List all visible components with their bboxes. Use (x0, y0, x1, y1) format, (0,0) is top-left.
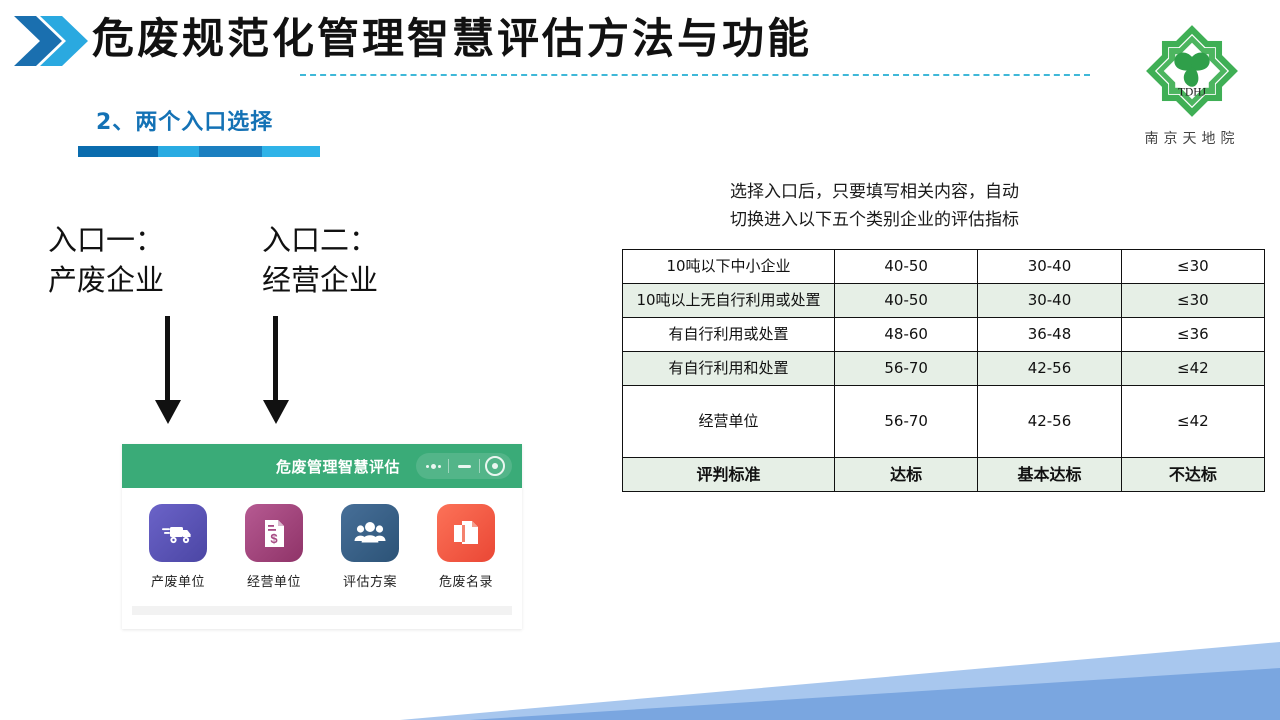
row-label: 10吨以上无自行利用或处置 (623, 284, 835, 318)
row-cell-1: 56-70 (835, 386, 978, 458)
app-item-minglu[interactable]: 危废名录 (428, 504, 504, 590)
minimize-icon[interactable] (449, 453, 479, 479)
clover-diamond-logo-icon: TDHJ (1139, 18, 1245, 124)
app-label-jingying: 经营单位 (236, 571, 312, 590)
row-label: 有自行利用和处置 (623, 352, 835, 386)
entry-one-line2: 产废企业 (48, 260, 164, 300)
note-line-2: 切换进入以下五个类别企业的评估指标 (730, 206, 1019, 234)
row-cell-1: 40-50 (835, 284, 978, 318)
row-cell-2: 42-56 (978, 386, 1121, 458)
row-cell-1: 56-70 (835, 352, 978, 386)
section-heading: 2、两个入口选择 (96, 104, 273, 136)
window-controls-capsule[interactable] (416, 453, 512, 479)
invoice-dollar-icon: $ (245, 504, 303, 562)
logo-monogram: TDHJ (1178, 87, 1207, 99)
row-cell-3: ≤42 (1121, 352, 1264, 386)
miniprogram-titlebar: 危废管理智慧评估 (122, 444, 522, 488)
organization-logo: TDHJ 南京天地院 (1126, 18, 1258, 148)
note-text: 选择入口后，只要填写相关内容，自动 切换进入以下五个类别企业的评估指标 (730, 178, 1019, 234)
close-target-icon[interactable] (480, 453, 510, 479)
row-cell-2: 基本达标 (978, 458, 1121, 492)
miniprogram-app-grid: 产废单位 $ 经营单位 (122, 488, 522, 600)
row-cell-2: 36-48 (978, 318, 1121, 352)
bar-segment-1 (78, 146, 158, 157)
table-row: 10吨以下中小企业 40-50 30-40 ≤30 (623, 250, 1265, 284)
entry-two-label: 入口二： 经营企业 (262, 220, 378, 300)
bar-segment-4 (262, 146, 320, 157)
row-cell-1: 40-50 (835, 250, 978, 284)
arrow-down-icon-entry-one (150, 316, 186, 426)
row-cell-3: ≤36 (1121, 318, 1264, 352)
table-row: 有自行利用和处置 56-70 42-56 ≤42 (623, 352, 1265, 386)
row-cell-3: ≤30 (1121, 284, 1264, 318)
row-label: 有自行利用或处置 (623, 318, 835, 352)
grading-table: 10吨以下中小企业 40-50 30-40 ≤30 10吨以上无自行利用或处置 … (622, 249, 1265, 492)
bar-segment-3 (199, 146, 262, 157)
header-dashed-rule (300, 74, 1090, 76)
row-label: 10吨以下中小企业 (623, 250, 835, 284)
row-cell-3: ≤30 (1121, 250, 1264, 284)
row-cell-2: 30-40 (978, 284, 1121, 318)
copy-documents-icon (437, 504, 495, 562)
row-cell-3: ≤42 (1121, 386, 1264, 458)
app-label-chanfei: 产废单位 (140, 571, 216, 590)
truck-icon (149, 504, 207, 562)
app-label-pinggu: 评估方案 (332, 571, 408, 590)
bar-segment-2 (158, 146, 199, 157)
table-row: 经营单位 56-70 42-56 ≤42 (623, 386, 1265, 458)
miniprogram-title: 危废管理智慧评估 (276, 456, 400, 477)
row-cell-3: 不达标 (1121, 458, 1264, 492)
row-cell-2: 42-56 (978, 352, 1121, 386)
section-underline-bar (78, 146, 320, 157)
entry-one-line1: 入口一： (48, 220, 164, 260)
entry-one-label: 入口一： 产废企业 (48, 220, 164, 300)
table-row: 10吨以上无自行利用或处置 40-50 30-40 ≤30 (623, 284, 1265, 318)
row-label: 经营单位 (623, 386, 835, 458)
app-item-chanfei[interactable]: 产废单位 (140, 504, 216, 590)
row-cell-1: 达标 (835, 458, 978, 492)
app-label-minglu: 危废名录 (428, 571, 504, 590)
row-label: 评判标准 (623, 458, 835, 492)
table-row: 评判标准 达标 基本达标 不达标 (623, 458, 1265, 492)
logo-caption: 南京天地院 (1126, 128, 1258, 148)
note-line-1: 选择入口后，只要填写相关内容，自动 (730, 178, 1019, 206)
app-item-pinggu[interactable]: 评估方案 (332, 504, 408, 590)
app-item-jingying[interactable]: $ 经营单位 (236, 504, 312, 590)
row-cell-2: 30-40 (978, 250, 1121, 284)
slide-root: 危废规范化管理智慧评估方法与功能 2、两个入口选择 TDHJ 南京天 (0, 0, 1280, 720)
more-icon[interactable] (418, 453, 448, 479)
arrow-down-icon-entry-two (258, 316, 294, 426)
miniprogram-window: 危废管理智慧评估 (122, 444, 522, 629)
table-row: 有自行利用或处置 48-60 36-48 ≤36 (623, 318, 1265, 352)
row-cell-1: 48-60 (835, 318, 978, 352)
bottom-diagonal-decoration (0, 610, 1280, 720)
people-group-icon (341, 504, 399, 562)
svg-text:$: $ (270, 531, 278, 546)
chevron-double-right-icon (14, 14, 88, 68)
entry-two-line2: 经营企业 (262, 260, 378, 300)
page-title: 危废规范化管理智慧评估方法与功能 (92, 8, 812, 70)
entry-two-line1: 入口二： (262, 220, 378, 260)
